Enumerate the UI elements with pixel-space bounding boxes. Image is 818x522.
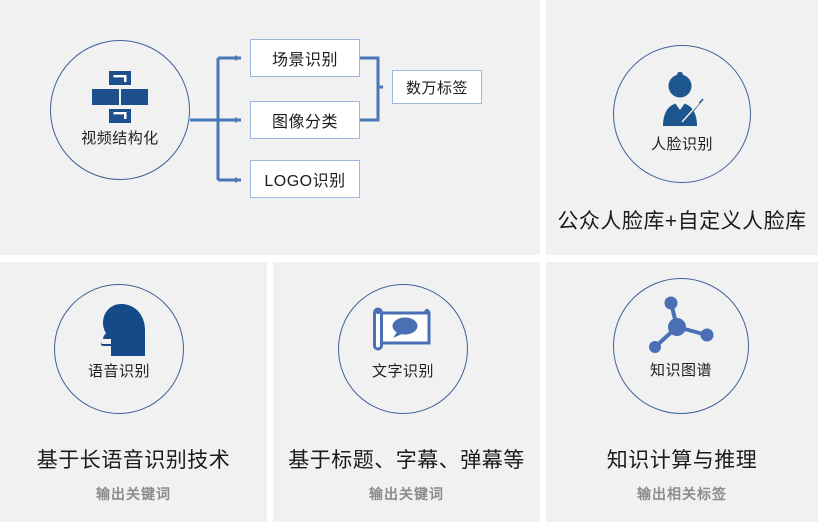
circle-label-text-recognition: 文字识别 — [339, 360, 467, 381]
flow-box-logo-recognition[interactable]: LOGO识别 — [250, 160, 360, 198]
circle-label-speech-recognition: 语音识别 — [55, 360, 183, 381]
speech-head-icon — [89, 303, 149, 364]
panel-video-structuring: 视频结构化 场景识别 图像分类 LOGO识别 数万标签 — [0, 0, 540, 255]
circle-label-face-recognition: 人脸识别 — [614, 133, 750, 154]
circle-face-recognition: 人脸识别 — [613, 45, 751, 183]
video-structuring-icon — [92, 71, 148, 128]
circle-text-recognition: 文字识别 — [338, 284, 468, 414]
flow-box-tens-of-thousands-tags-label: 数万标签 — [406, 77, 468, 98]
face-recognition-icon — [655, 70, 709, 135]
flow-box-tens-of-thousands-tags[interactable]: 数万标签 — [392, 70, 482, 104]
subcaption-speech-recognition: 输出关键词 — [0, 484, 267, 504]
flow-box-image-classification[interactable]: 图像分类 — [250, 101, 360, 139]
text-banner-icon — [371, 305, 435, 360]
caption-speech-recognition: 基于长语音识别技术 — [0, 444, 267, 474]
panel-knowledge-graph: 知识图谱 知识计算与推理 输出相关标签 — [546, 262, 818, 522]
panel-speech-recognition: 语音识别 基于长语音识别技术 输出关键词 — [0, 262, 267, 522]
circle-knowledge-graph: 知识图谱 — [613, 278, 749, 414]
circle-label-knowledge-graph: 知识图谱 — [614, 359, 748, 380]
flow-box-image-classification-label: 图像分类 — [272, 108, 338, 132]
circle-label-video-structuring: 视频结构化 — [51, 127, 189, 148]
panel-face-recognition: 人脸识别 公众人脸库+自定义人脸库 — [546, 0, 818, 255]
infographic-stage: 视频结构化 场景识别 图像分类 LOGO识别 数万标签 — [0, 0, 818, 522]
caption-face-recognition: 公众人脸库+自定义人脸库 — [546, 205, 818, 235]
subcaption-text-recognition: 输出关键词 — [273, 484, 540, 504]
knowledge-graph-icon — [645, 293, 717, 360]
flow-box-logo-recognition-label: LOGO识别 — [264, 167, 345, 191]
caption-knowledge-graph: 知识计算与推理 — [546, 444, 818, 474]
panel-text-recognition: 文字识别 基于标题、字幕、弹幕等 输出关键词 — [273, 262, 540, 522]
flow-box-scene-recognition-label: 场景识别 — [272, 46, 338, 70]
subcaption-knowledge-graph: 输出相关标签 — [546, 484, 818, 504]
circle-video-structuring: 视频结构化 — [50, 40, 190, 180]
caption-text-recognition: 基于标题、字幕、弹幕等 — [273, 444, 540, 474]
flow-box-scene-recognition[interactable]: 场景识别 — [250, 39, 360, 77]
circle-speech-recognition: 语音识别 — [54, 284, 184, 414]
